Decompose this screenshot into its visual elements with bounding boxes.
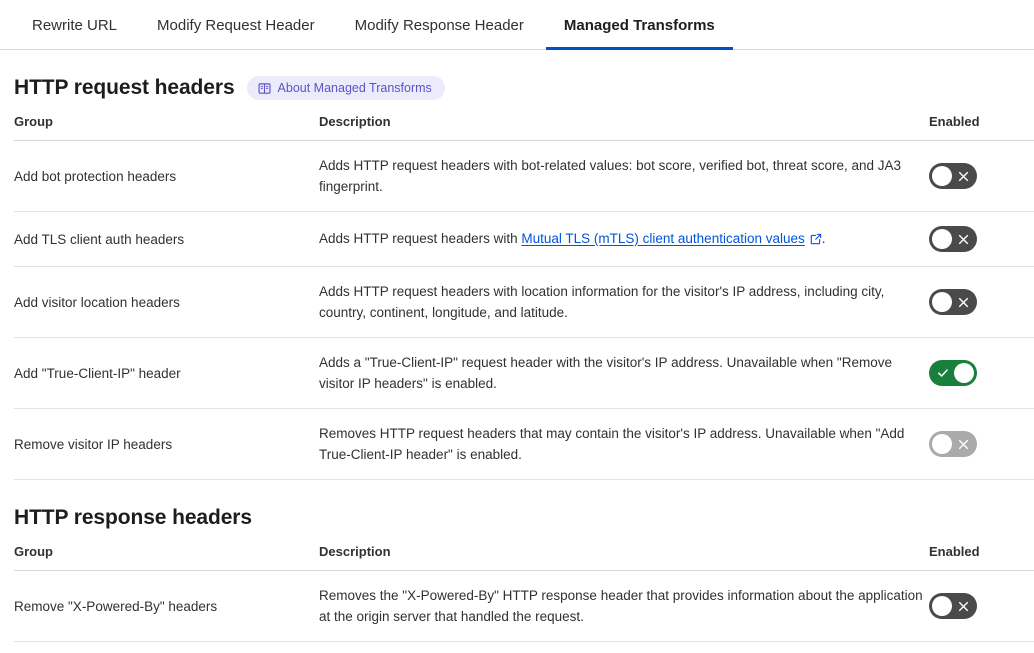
row-description: Adds HTTP request headers with bot-relat…: [319, 141, 929, 212]
toggle-knob: [932, 434, 952, 454]
toggle-add-tls-client-auth-headers[interactable]: [929, 226, 977, 252]
table-header-row: Group Description Enabled: [14, 114, 1034, 141]
row-group-name: Add visitor location headers: [14, 267, 319, 338]
column-header-description: Description: [319, 114, 929, 141]
row-description: Adds HTTP request headers with Mutual TL…: [319, 212, 929, 267]
toggle-knob: [932, 229, 952, 249]
table-header-row: Group Description Enabled: [14, 544, 1034, 571]
request-headers-table: Group Description Enabled Add bot protec…: [14, 114, 1034, 480]
row-description: Adds a "True-Client-IP" request header w…: [319, 338, 929, 409]
toggle-add-visitor-location-headers[interactable]: [929, 289, 977, 315]
toggle-knob: [932, 292, 952, 312]
row-description: Removes HTTP request headers that may co…: [319, 409, 929, 480]
close-icon: [957, 593, 969, 619]
check-icon: [937, 360, 949, 386]
table-row: Add TLS client auth headers Adds HTTP re…: [14, 212, 1034, 267]
column-header-enabled: Enabled: [929, 114, 1034, 141]
response-section-header: HTTP response headers: [14, 480, 1020, 544]
request-section-header: HTTP request headers About Managed Trans…: [14, 50, 1020, 114]
toggle-remove-visitor-ip-headers: [929, 431, 977, 457]
row-group-name: Add "True-Client-IP" header: [14, 338, 319, 409]
close-icon: [957, 163, 969, 189]
row-enabled-cell: [929, 141, 1034, 212]
description-text-before: Adds HTTP request headers with: [319, 231, 521, 246]
table-row: Add security headers Adds several securi…: [14, 642, 1034, 653]
about-badge-label: About Managed Transforms: [278, 81, 432, 95]
row-enabled-cell: [929, 571, 1034, 642]
http-response-headers-section: HTTP response headers Group Description …: [0, 480, 1034, 653]
row-group-name: Remove "X-Powered-By" headers: [14, 571, 319, 642]
toggle-knob: [932, 596, 952, 616]
row-group-name: Add bot protection headers: [14, 141, 319, 212]
toggle-add-true-client-ip-header[interactable]: [929, 360, 977, 386]
row-description: Removes the "X-Powered-By" HTTP response…: [319, 571, 929, 642]
tab-managed-transforms[interactable]: Managed Transforms: [546, 17, 733, 49]
close-icon: [957, 289, 969, 315]
row-description: Adds several security-related HTTP respo…: [319, 642, 929, 653]
row-group-name: Add TLS client auth headers: [14, 212, 319, 267]
close-icon: [957, 226, 969, 252]
description-text-after: .: [822, 231, 826, 246]
mtls-client-auth-link[interactable]: Mutual TLS (mTLS) client authentication …: [521, 231, 804, 246]
toggle-remove-x-powered-by-headers[interactable]: [929, 593, 977, 619]
row-enabled-cell: [929, 212, 1034, 267]
tab-bar: Rewrite URL Modify Request Header Modify…: [0, 0, 1034, 50]
book-icon: [258, 82, 271, 95]
http-request-headers-section: HTTP request headers About Managed Trans…: [0, 50, 1034, 480]
column-header-enabled: Enabled: [929, 544, 1034, 571]
row-enabled-cell: [929, 409, 1034, 480]
row-group-name: Remove visitor IP headers: [14, 409, 319, 480]
page-title: HTTP request headers: [14, 76, 235, 100]
table-row: Remove "X-Powered-By" headers Removes th…: [14, 571, 1034, 642]
column-header-description: Description: [319, 544, 929, 571]
toggle-add-bot-protection-headers[interactable]: [929, 163, 977, 189]
tab-modify-request-header[interactable]: Modify Request Header: [139, 17, 333, 49]
table-row: Add visitor location headers Adds HTTP r…: [14, 267, 1034, 338]
row-group-name: Add security headers: [14, 642, 319, 653]
toggle-knob: [932, 166, 952, 186]
toggle-knob: [954, 363, 974, 383]
external-link-icon[interactable]: [810, 230, 822, 251]
row-enabled-cell: [929, 642, 1034, 653]
column-header-group: Group: [14, 114, 319, 141]
row-enabled-cell: [929, 338, 1034, 409]
table-row: Remove visitor IP headers Removes HTTP r…: [14, 409, 1034, 480]
response-headers-table: Group Description Enabled Remove "X-Powe…: [14, 544, 1034, 653]
response-section-title: HTTP response headers: [14, 506, 252, 530]
tab-rewrite-url[interactable]: Rewrite URL: [14, 17, 135, 49]
close-icon: [957, 431, 969, 457]
column-header-group: Group: [14, 544, 319, 571]
tab-modify-response-header[interactable]: Modify Response Header: [337, 17, 542, 49]
row-description: Adds HTTP request headers with location …: [319, 267, 929, 338]
table-row: Add "True-Client-IP" header Adds a "True…: [14, 338, 1034, 409]
about-managed-transforms-badge[interactable]: About Managed Transforms: [247, 76, 445, 100]
table-row: Add bot protection headers Adds HTTP req…: [14, 141, 1034, 212]
row-enabled-cell: [929, 267, 1034, 338]
